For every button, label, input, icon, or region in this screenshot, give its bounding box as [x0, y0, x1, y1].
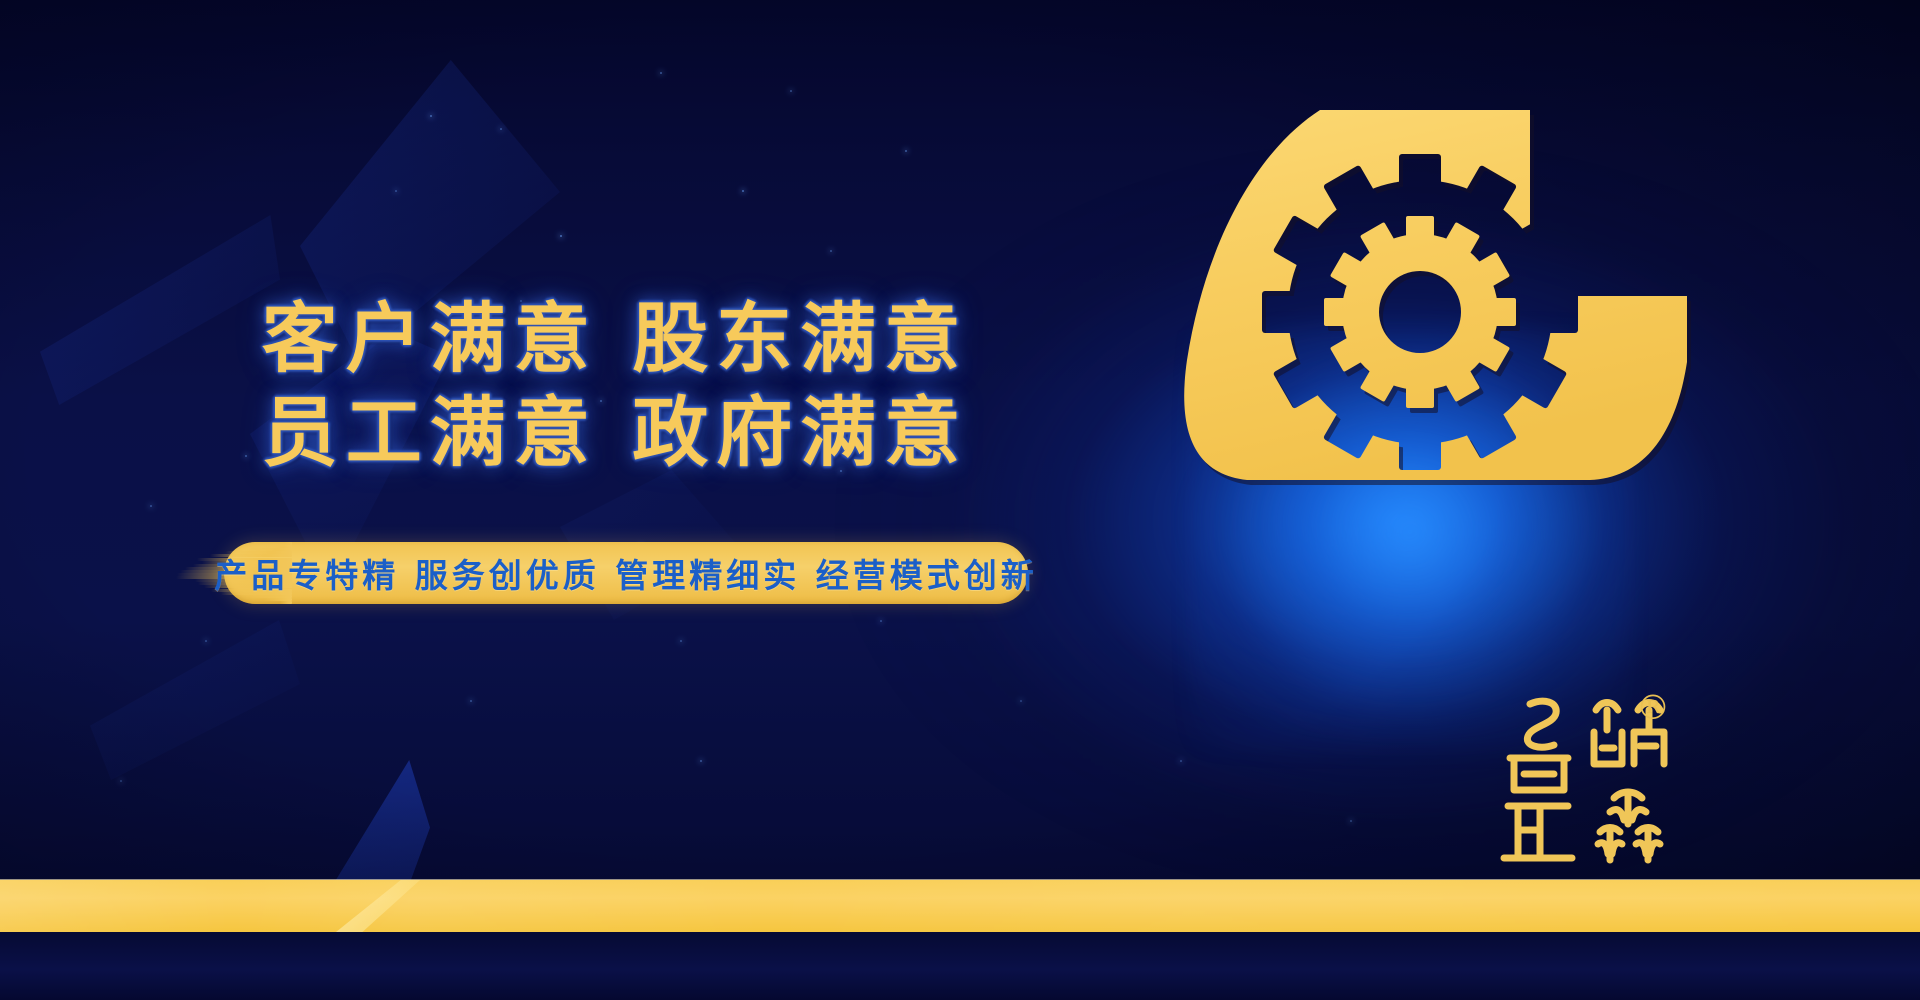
registered-trademark-icon: ®: [1636, 688, 1670, 728]
subtitle-banner: 产品专特精 服务创优质 管理精细实 经营模式创新: [172, 542, 1028, 604]
headline-line-2: 员工满意 政府满意: [235, 386, 995, 480]
banner-canvas: 客户满意 股东满意 员工满意 政府满意 产品专特精 服务创优质 管理精细实 经营…: [0, 0, 1920, 1000]
gold-bar-sheen: [0, 880, 1920, 932]
headline-line-1: 客户满意 股东满意: [235, 292, 995, 386]
company-logo: [1135, 100, 1695, 495]
seal-char-tai: [1510, 701, 1568, 790]
seal-char-sen: [1598, 792, 1660, 860]
seal-char-zheng: [1504, 806, 1572, 858]
headline-slogan: 客户满意 股东满意 员工满意 政府满意: [235, 292, 995, 480]
bottom-navy-strip: [0, 932, 1920, 1000]
subtitle-text: 产品专特精 服务创优质 管理精细实 经营模式创新: [224, 542, 1028, 604]
logo-gold-body: [1184, 110, 1687, 480]
